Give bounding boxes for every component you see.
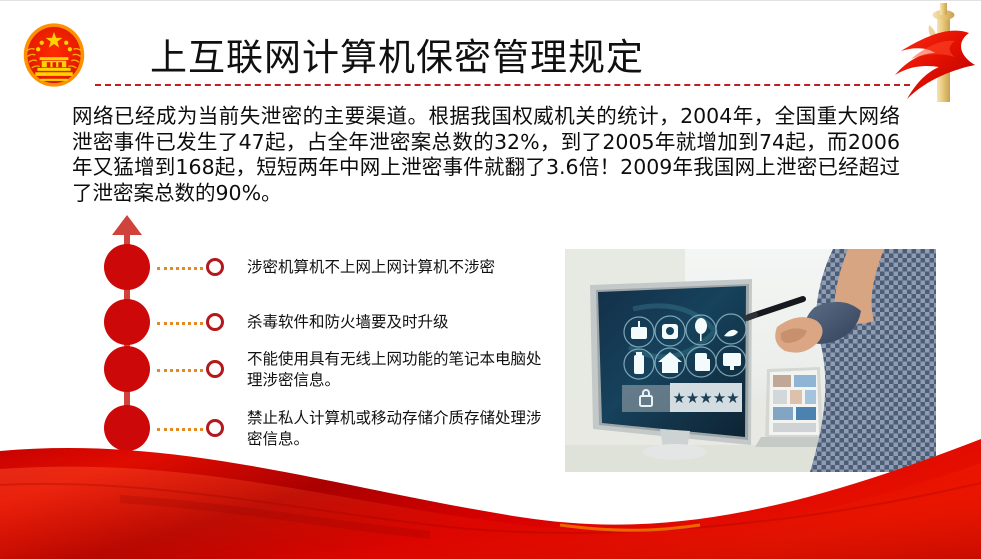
timeline-connector-4: [157, 428, 203, 431]
list-item: 杀毒软件和防火墙要及时升级: [247, 312, 547, 333]
illustration-photo: ★★★★★: [565, 249, 936, 472]
timeline-connector-2: [157, 322, 203, 325]
list-item: 禁止私人计算机或移动存储介质存储处理涉密信息。: [247, 408, 547, 450]
timeline-node-2[interactable]: [104, 299, 150, 345]
timeline-connector-1: [157, 267, 203, 270]
red-ribbon-huabiao-decoration: [851, 0, 981, 115]
body-paragraph: 网络已经成为当前失泄密的主要渠道。根据我国权威机关的统计，2004年，全国重大网…: [72, 104, 900, 206]
timeline-connector-3: [157, 369, 203, 372]
timeline-ring-1[interactable]: [206, 258, 224, 276]
china-national-emblem-icon: [18, 19, 90, 91]
list-item: 不能使用具有无线上网功能的笔记本电脑处理涉密信息。: [247, 349, 547, 391]
slide-canvas: 上互联网计算机保密管理规定: [0, 0, 981, 560]
svg-text:★★★★★: ★★★★★: [672, 389, 739, 407]
timeline-ring-4[interactable]: [206, 419, 224, 437]
title-divider: [95, 84, 910, 86]
timeline-ring-2[interactable]: [206, 313, 224, 331]
page-title: 上互联网计算机保密管理规定: [150, 27, 644, 81]
timeline-node-4[interactable]: [104, 405, 150, 451]
timeline-ring-3[interactable]: [206, 360, 224, 378]
timeline-node-1[interactable]: [104, 244, 150, 290]
timeline-node-3[interactable]: [104, 346, 150, 392]
list-item: 涉密机算机不上网上网计算机不涉密: [247, 257, 547, 278]
